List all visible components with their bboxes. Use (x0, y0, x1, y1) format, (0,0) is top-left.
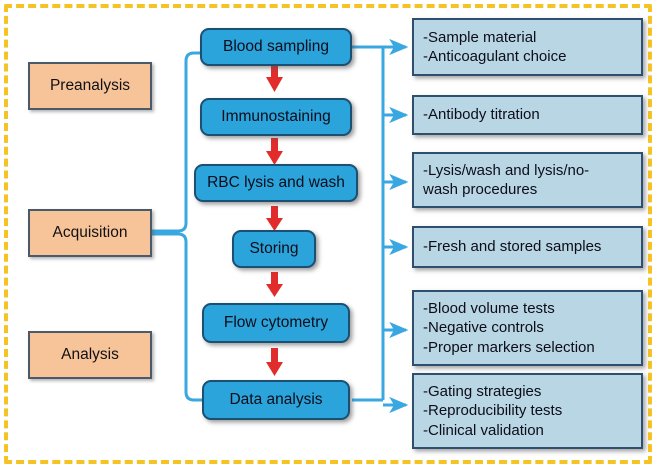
note-line: -Reproducibility tests (423, 401, 641, 421)
step-box-rbc-lysis-wash[interactable]: RBC lysis and wash (194, 164, 358, 202)
phase-box-preanalysis[interactable]: Preanalysis (28, 62, 152, 110)
phase-label-preanalysis: Preanalysis (50, 77, 130, 95)
step-box-flow-cytometry[interactable]: Flow cytometry (202, 303, 350, 343)
note-line: -Proper markers selection (423, 338, 641, 358)
step-label-blood-sampling: Blood sampling (223, 38, 329, 56)
diagram-canvas: Preanalysis Acquisition Analysis Blood s… (0, 0, 660, 472)
note-line: -Gating strategies (423, 382, 641, 402)
step-label-flow-cytometry: Flow cytometry (224, 314, 328, 332)
phase-box-analysis[interactable]: Analysis (28, 331, 152, 379)
step-label-storing: Storing (249, 240, 298, 258)
note-line: -Sample material (423, 28, 641, 48)
note-line: -Anticoagulant choice (423, 47, 641, 67)
note-line: -Lysis/wash and lysis/no- (423, 161, 641, 181)
note-box-lysis[interactable]: -Lysis/wash and lysis/no- wash procedure… (412, 152, 643, 208)
note-box-cytometry[interactable]: -Blood volume tests -Negative controls -… (412, 290, 643, 366)
note-line: -Negative controls (423, 318, 641, 338)
note-line: -Blood volume tests (423, 299, 641, 319)
note-box-immunostaining[interactable]: -Antibody titration (412, 95, 643, 135)
note-line: -Clinical validation (423, 421, 641, 441)
phase-box-acquisition[interactable]: Acquisition (28, 209, 152, 257)
phase-label-analysis: Analysis (61, 346, 119, 364)
step-box-immunostaining[interactable]: Immunostaining (200, 98, 352, 136)
step-box-data-analysis[interactable]: Data analysis (202, 380, 350, 420)
note-box-sampling[interactable]: -Sample material -Anticoagulant choice (412, 18, 643, 76)
note-box-storing[interactable]: -Fresh and stored samples (412, 226, 643, 268)
note-box-analysis[interactable]: -Gating strategies -Reproducibility test… (412, 373, 643, 449)
step-label-immunostaining: Immunostaining (221, 108, 330, 126)
step-label-rbc-lysis-wash: RBC lysis and wash (207, 174, 345, 192)
note-line: -Fresh and stored samples (423, 237, 641, 257)
note-line: wash procedures (423, 180, 641, 200)
note-line: -Antibody titration (423, 105, 641, 125)
phase-label-acquisition: Acquisition (53, 224, 128, 242)
step-box-blood-sampling[interactable]: Blood sampling (200, 28, 352, 66)
step-label-data-analysis: Data analysis (229, 391, 322, 409)
step-box-storing[interactable]: Storing (232, 230, 316, 268)
